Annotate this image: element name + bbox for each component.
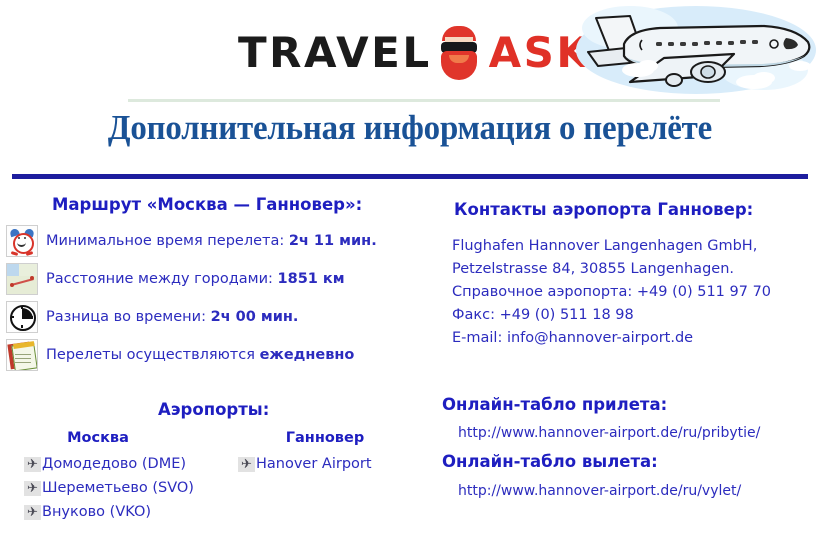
fact-label-frequency: Перелеты осуществляются <box>46 347 255 363</box>
arrivals-board-heading: Онлайн-табло прилета: <box>442 395 667 414</box>
bearded-face-icon <box>436 24 482 82</box>
airport-column-moscow: Москва ✈ Домодедово (DME) ✈ Шереметьево … <box>24 430 214 524</box>
fact-row-time-difference: Разница во времени: 2ч 00 мин. <box>6 298 420 336</box>
contact-line-email[interactable]: E-mail: info@hannover-airport.de <box>452 330 771 346</box>
logo-word-travel: TRAVEL <box>238 32 432 74</box>
airport-item-hanover[interactable]: ✈ Hanover Airport <box>238 452 418 476</box>
airport-label-dme: Домодедово (DME) <box>42 456 186 472</box>
route-heading: Маршрут «Москва — Ганновер»: <box>52 195 362 214</box>
fact-text-time-difference: Разница во времени: 2ч 00 мин. <box>46 309 298 325</box>
map-icon <box>6 263 38 295</box>
airport-column-head-moscow: Москва <box>24 430 214 446</box>
fact-value-frequency: ежедневно <box>260 347 355 363</box>
flight-info-page: TRAVEL ASK <box>0 0 820 547</box>
contact-line-info-phone: Справочное аэропорта: +49 (0) 511 97 70 <box>452 284 771 300</box>
airport-item-svo[interactable]: ✈ Шереметьево (SVO) <box>24 476 214 500</box>
contacts-block: Flughafen Hannover Langenhagen GmbH, Pet… <box>452 238 771 353</box>
fact-value-distance: 1851 км <box>278 271 345 287</box>
airports-heading: Аэропорты: <box>158 400 269 419</box>
departures-board-url[interactable]: http://www.hannover-airport.de/ru/vylet/ <box>458 483 741 499</box>
plane-icon: ✈ <box>24 505 41 520</box>
clock-icon <box>6 301 38 333</box>
travelask-logo[interactable]: TRAVEL ASK <box>238 22 591 84</box>
fact-row-frequency: Перелеты осуществляются ежедневно <box>6 336 420 374</box>
page-title: Дополнительная информация о перелёте <box>25 108 796 148</box>
left-column: Маршрут «Москва — Ганновер»: Минимальное… <box>0 190 420 547</box>
fact-row-distance: Расстояние между городами: 1851 км <box>6 260 420 298</box>
fact-value-time-difference: 2ч 00 мин. <box>211 309 299 325</box>
title-divider-thick <box>12 174 808 179</box>
airport-item-dme[interactable]: ✈ Домодедово (DME) <box>24 452 214 476</box>
fact-label-flight-time: Минимальное время перелета: <box>46 233 284 249</box>
route-fact-list: Минимальное время перелета: 2ч 11 мин. Р… <box>6 222 420 374</box>
fact-text-flight-time: Минимальное время перелета: 2ч 11 мин. <box>46 233 377 249</box>
airport-label-vko: Внуково (VKO) <box>42 504 151 520</box>
plane-icon: ✈ <box>24 457 41 472</box>
airport-column-head-hanover: Ганновер <box>238 430 418 446</box>
fact-label-distance: Расстояние между городами: <box>46 271 273 287</box>
fact-value-flight-time: 2ч 11 мин. <box>289 233 377 249</box>
fact-text-frequency: Перелеты осуществляются ежедневно <box>46 347 354 363</box>
calendar-icon <box>6 339 38 371</box>
contact-line-fax: Факс: +49 (0) 511 18 98 <box>452 307 771 323</box>
contact-line-address: Petzelstrasse 84, 30855 Langenhagen. <box>452 261 771 277</box>
plane-icon: ✈ <box>24 481 41 496</box>
contact-line-company: Flughafen Hannover Langenhagen GmbH, <box>452 238 771 254</box>
header-divider-thin <box>128 99 720 102</box>
fact-row-flight-time: Минимальное время перелета: 2ч 11 мин. <box>6 222 420 260</box>
airport-label-svo: Шереметьево (SVO) <box>42 480 194 496</box>
contacts-heading: Контакты аэропорта Ганновер: <box>454 200 753 219</box>
fact-label-time-difference: Разница во времени: <box>46 309 206 325</box>
airplane-illustration <box>568 0 820 100</box>
airport-label-hanover: Hanover Airport <box>256 456 372 472</box>
plane-icon: ✈ <box>238 457 255 472</box>
alarm-clock-icon <box>6 225 38 257</box>
right-column: Контакты аэропорта Ганновер: Flughafen H… <box>420 190 820 547</box>
airport-column-hanover: Ганновер ✈ Hanover Airport <box>238 430 418 476</box>
fact-text-distance: Расстояние между городами: 1851 км <box>46 271 345 287</box>
airport-item-vko[interactable]: ✈ Внуково (VKO) <box>24 500 214 524</box>
departures-board-heading: Онлайн-табло вылета: <box>442 452 658 471</box>
arrivals-board-url[interactable]: http://www.hannover-airport.de/ru/pribyt… <box>458 425 760 441</box>
